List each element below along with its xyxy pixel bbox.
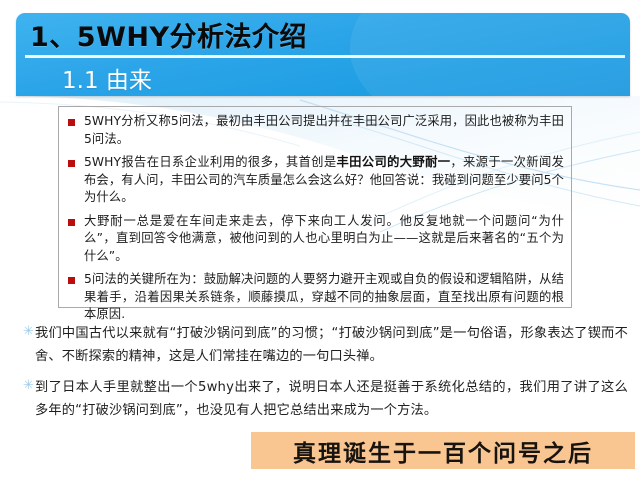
slide-canvas: 1、5WHY分析法介绍 1.1 由来 5WHY分析又称5问法，最初由丰田公司提出…	[0, 0, 640, 480]
content-box-item-text: 5WHY分析又称5问法，最初由丰田公司提出并在丰田公司广泛采用，因此也被称为丰田…	[84, 113, 564, 148]
quote-banner-text: 真理诞生于一百个问号之后	[293, 434, 593, 468]
content-box-item: 5WHY分析又称5问法，最初由丰田公司提出并在丰田公司广泛采用，因此也被称为丰田…	[66, 113, 564, 148]
outer-bullet-item: ✳ 到了日本人手里就整出一个5why出来了，说明日本人还是挺善于系统化总结的，我…	[22, 376, 628, 422]
slide-header-banner: 1、5WHY分析法介绍 1.1 由来	[16, 13, 630, 96]
star-bullet-icon: ✳	[22, 378, 35, 394]
quote-banner: 真理诞生于一百个问号之后	[251, 432, 635, 469]
outer-bullet-item: ✳ 我们中国古代以来就有“打破沙锅问到底”的习惯；“打破沙锅问到底”是一句俗语，…	[22, 322, 628, 368]
outer-bullet-text: 到了日本人手里就整出一个5why出来了，说明日本人还是挺善于系统化总结的，我们用…	[35, 376, 628, 422]
square-bullet-icon	[68, 119, 75, 126]
title-underline-rule	[25, 55, 625, 58]
content-box: 5WHY分析又称5问法，最初由丰田公司提出并在丰田公司广泛采用，因此也被称为丰田…	[58, 106, 572, 308]
content-box-item: 5WHY报告在日系企业利用的很多，其首创是丰田公司的大野耐一，来源于一次新闻发布…	[66, 154, 564, 207]
star-bullet-icon: ✳	[22, 324, 35, 340]
content-box-item: 5问法的关键所在为：鼓励解决问题的人要努力避开主观或自负的假设和逻辑陷阱，从结果…	[66, 271, 564, 324]
outer-bullet-text: 我们中国古代以来就有“打破沙锅问到底”的习惯；“打破沙锅问到底”是一句俗语，形象…	[35, 322, 628, 368]
content-box-item-text: 大野耐一总是爱在车间走来走去，停下来向工人发问。他反复地就一个问题问“为什么”，…	[84, 213, 564, 266]
square-bullet-icon	[68, 277, 75, 284]
content-box-item: 大野耐一总是爱在车间走来走去，停下来向工人发问。他反复地就一个问题问“为什么”，…	[66, 213, 564, 266]
content-box-item-text: 5问法的关键所在为：鼓励解决问题的人要努力避开主观或自负的假设和逻辑陷阱，从结果…	[84, 271, 564, 324]
page-title: 1、5WHY分析法介绍	[30, 15, 307, 54]
content-box-item-text: 5WHY报告在日系企业利用的很多，其首创是丰田公司的大野耐一，来源于一次新闻发布…	[84, 154, 564, 207]
page-subtitle: 1.1 由来	[62, 61, 152, 95]
square-bullet-icon	[68, 160, 75, 167]
square-bullet-icon	[68, 219, 75, 226]
